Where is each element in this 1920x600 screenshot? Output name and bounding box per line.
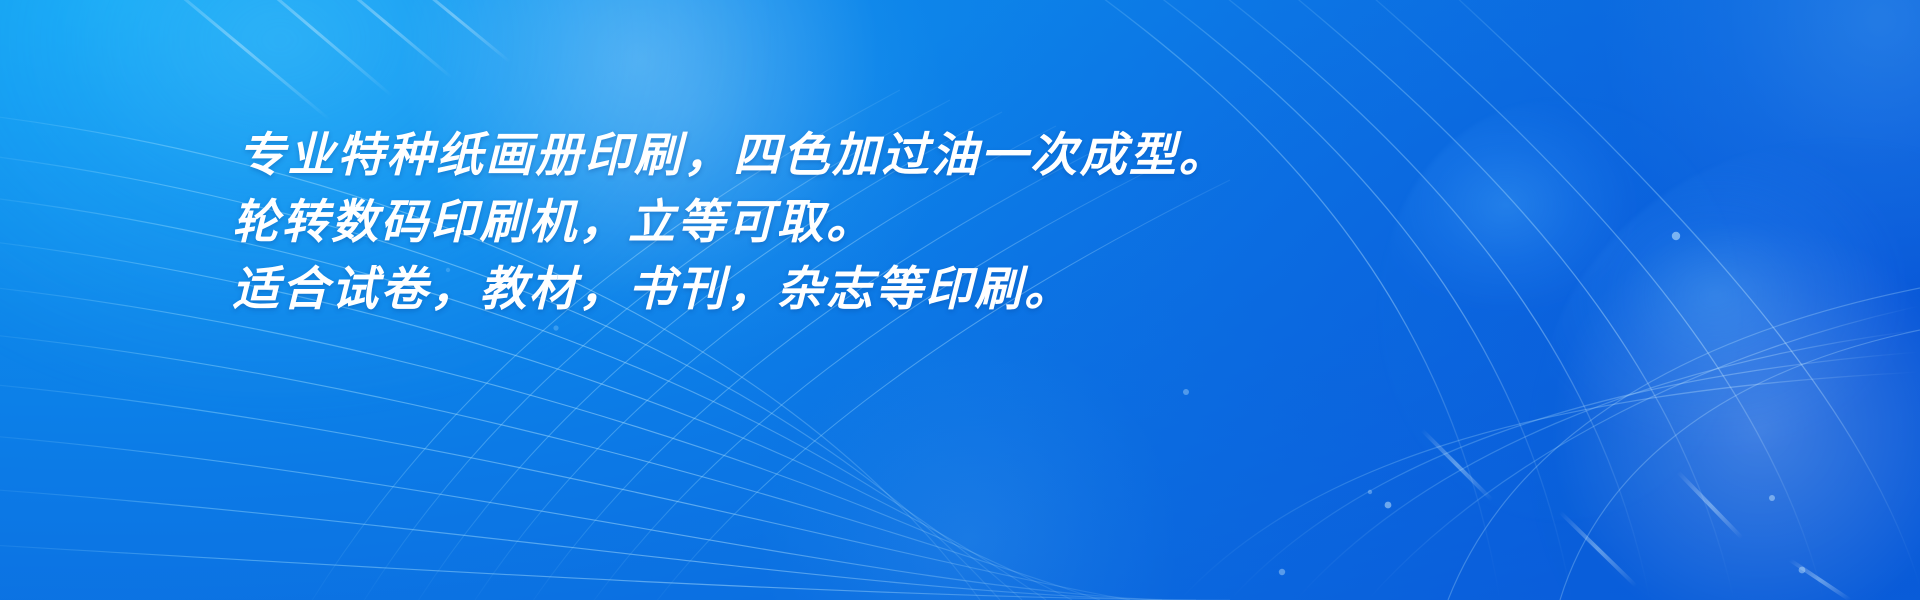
headline-line-1: 专业特种纸画册印刷，四色加过油一次成型。 bbox=[238, 122, 1732, 189]
promo-banner: 专业特种纸画册印刷，四色加过油一次成型。 轮转数码印刷机，立等可取。 适合试卷，… bbox=[0, 0, 1920, 600]
headline-line-2: 轮转数码印刷机，立等可取。 bbox=[232, 189, 1732, 256]
headline-block: 专业特种纸画册印刷，四色加过油一次成型。 轮转数码印刷机，立等可取。 适合试卷，… bbox=[232, 122, 1732, 323]
headline-line-3: 适合试卷，教材，书刊，杂志等印刷。 bbox=[232, 256, 1732, 323]
